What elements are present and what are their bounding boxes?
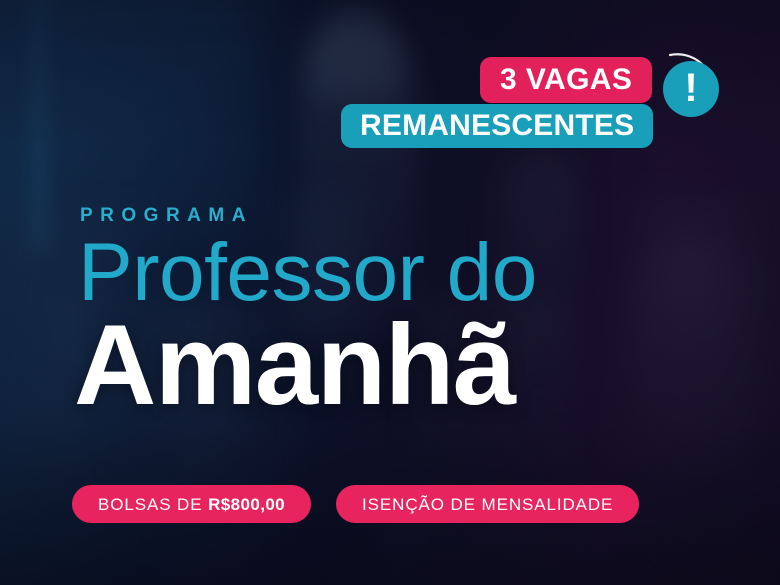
title-line-2: Amanhã: [74, 309, 718, 423]
benefit-pill-bolsas: BOLSAS DE R$800,00: [72, 485, 311, 523]
promo-banner: 3 VAGAS ! REMANESCENTES PROGRAMA Profess…: [0, 0, 780, 585]
vacancy-badge-group: 3 VAGAS ! REMANESCENTES: [341, 50, 741, 155]
headline-block: PROGRAMA Professor do Amanhã: [78, 206, 718, 423]
badge-remanescentes-label: REMANESCENTES: [360, 111, 634, 141]
benefit-pill-isencao-label: ISENÇÃO DE MENSALIDADE: [362, 496, 613, 513]
exclamation-icon: !: [663, 61, 719, 117]
badge-remanescentes: REMANESCENTES: [341, 104, 653, 148]
benefit-pill-bolsas-label: BOLSAS DE R$800,00: [98, 496, 285, 513]
banner-content: 3 VAGAS ! REMANESCENTES PROGRAMA Profess…: [0, 0, 780, 585]
benefit-pill-isencao: ISENÇÃO DE MENSALIDADE: [336, 485, 639, 523]
eyebrow-label: PROGRAMA: [80, 206, 718, 225]
benefit-pill-bolsas-prefix: BOLSAS DE: [98, 495, 208, 514]
badge-vagas: 3 VAGAS: [480, 57, 652, 103]
benefit-pill-row: BOLSAS DE R$800,00 ISENÇÃO DE MENSALIDAD…: [72, 485, 639, 523]
badge-vagas-label: 3 VAGAS: [500, 65, 632, 95]
exclamation-glyph: !: [684, 68, 697, 108]
benefit-pill-bolsas-amount: R$800,00: [208, 495, 285, 514]
